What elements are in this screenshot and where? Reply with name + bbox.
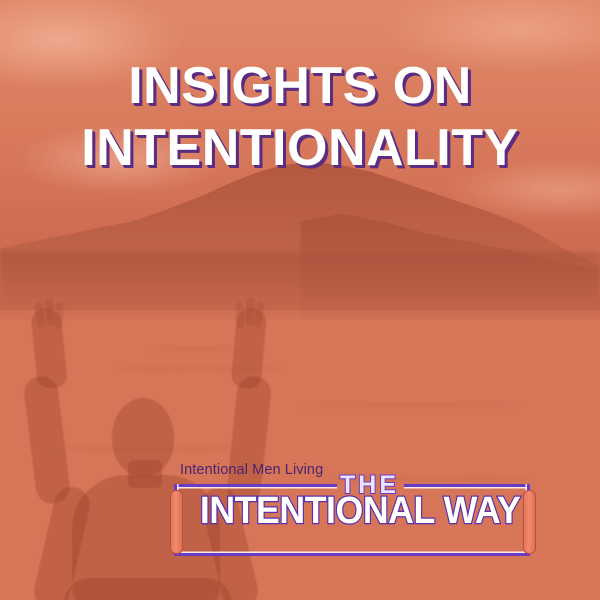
- logo-frame-bottom: [174, 553, 530, 556]
- logo-rule-top-right: [404, 484, 530, 487]
- logo-wordmark: INTENTIONAL WAY: [200, 492, 510, 530]
- brand-logo: Intentional Men Living THE INTENTIONAL W…: [172, 462, 536, 562]
- podcast-cover-artwork: INSIGHTS ON INTENTIONALITY Intentional M…: [0, 0, 600, 600]
- logo-accent-pill-left: [170, 490, 183, 554]
- logo-rule-top-left: [174, 484, 337, 487]
- logo-accent-pill-right: [523, 490, 536, 554]
- title-line-1: INSIGHTS ON: [0, 60, 600, 112]
- title-line-2: INTENTIONALITY: [0, 122, 600, 174]
- page-title: INSIGHTS ON INTENTIONALITY: [0, 60, 600, 174]
- logo-tagline: Intentional Men Living: [180, 462, 323, 478]
